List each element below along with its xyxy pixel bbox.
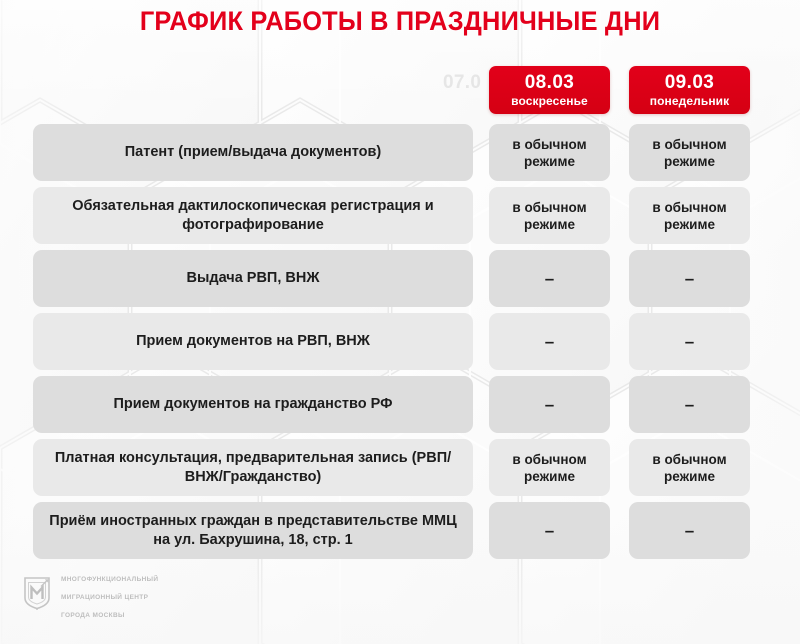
service-label: Обязательная дактилоскопическая регистра… <box>33 187 473 244</box>
logo-text-block: МНОГОФУНКЦИОНАЛЬНЫЙ МИГРАЦИОННЫЙ ЦЕНТР Г… <box>61 566 158 620</box>
dash-icon: – <box>685 522 694 539</box>
dash-icon: – <box>545 270 554 287</box>
service-label: Прием документов на гражданство РФ <box>33 376 473 433</box>
status-cell: – <box>489 313 610 370</box>
table-row: Патент (прием/выдача документов) в обычн… <box>0 124 800 181</box>
mmc-shield-logo-icon <box>22 576 52 610</box>
status-cell: – <box>629 376 750 433</box>
dash-icon: – <box>545 522 554 539</box>
status-cell: – <box>489 502 610 559</box>
footer-logo: МНОГОФУНКЦИОНАЛЬНЫЙ МИГРАЦИОННЫЙ ЦЕНТР Г… <box>22 566 158 620</box>
table-row: Обязательная дактилоскопическая регистра… <box>0 187 800 244</box>
status-cell: в обычном режиме <box>629 187 750 244</box>
status-cell: в обычном режиме <box>489 124 610 181</box>
status-cell: – <box>489 376 610 433</box>
holiday-schedule-poster: ГРАФИК РАБОТЫ В ПРАЗДНИЧНЫЕ ДНИ 07.0 08.… <box>0 0 800 644</box>
table-row: Прием документов на РВП, ВНЖ – – <box>0 313 800 370</box>
page-title: ГРАФИК РАБОТЫ В ПРАЗДНИЧНЫЕ ДНИ <box>24 6 776 37</box>
schedule-table: Патент (прием/выдача документов) в обычн… <box>0 124 800 565</box>
status-cell: – <box>489 250 610 307</box>
date-header-row: 07.0 08.03 воскресенье 09.03 понедельник <box>0 66 800 114</box>
status-cell: в обычном режиме <box>629 124 750 181</box>
status-cell: в обычном режиме <box>489 187 610 244</box>
status-cell: в обычном режиме <box>489 439 610 496</box>
table-row: Прием документов на гражданство РФ – – <box>0 376 800 433</box>
service-label: Приём иностранных граждан в представител… <box>33 502 473 559</box>
table-row: Выдача РВП, ВНЖ – – <box>0 250 800 307</box>
dash-icon: – <box>685 270 694 287</box>
status-cell: – <box>629 250 750 307</box>
logo-line-2: МИГРАЦИОННЫЙ ЦЕНТР <box>61 594 148 601</box>
date-badge-weekday: воскресенье <box>511 94 588 108</box>
status-cell: – <box>629 313 750 370</box>
date-badge-weekday: понедельник <box>650 94 730 108</box>
service-label: Платная консультация, предварительная за… <box>33 439 473 496</box>
status-cell: в обычном режиме <box>629 439 750 496</box>
service-label: Патент (прием/выдача документов) <box>33 124 473 181</box>
service-label: Прием документов на РВП, ВНЖ <box>33 313 473 370</box>
date-badge-09-03: 09.03 понедельник <box>629 66 750 114</box>
dash-icon: – <box>685 396 694 413</box>
logo-line-3: ГОРОДА МОСКВЫ <box>61 612 125 619</box>
date-badge-number: 08.03 <box>525 73 575 93</box>
table-row: Приём иностранных граждан в представител… <box>0 502 800 559</box>
date-badge-number: 09.03 <box>665 73 715 93</box>
dash-icon: – <box>685 333 694 350</box>
status-cell: – <box>629 502 750 559</box>
occluded-date-label: 07.0 <box>443 72 481 94</box>
logo-line-1: МНОГОФУНКЦИОНАЛЬНЫЙ <box>61 576 158 583</box>
service-label: Выдача РВП, ВНЖ <box>33 250 473 307</box>
date-badge-08-03: 08.03 воскресенье <box>489 66 610 114</box>
table-row: Платная консультация, предварительная за… <box>0 439 800 496</box>
dash-icon: – <box>545 333 554 350</box>
dash-icon: – <box>545 396 554 413</box>
